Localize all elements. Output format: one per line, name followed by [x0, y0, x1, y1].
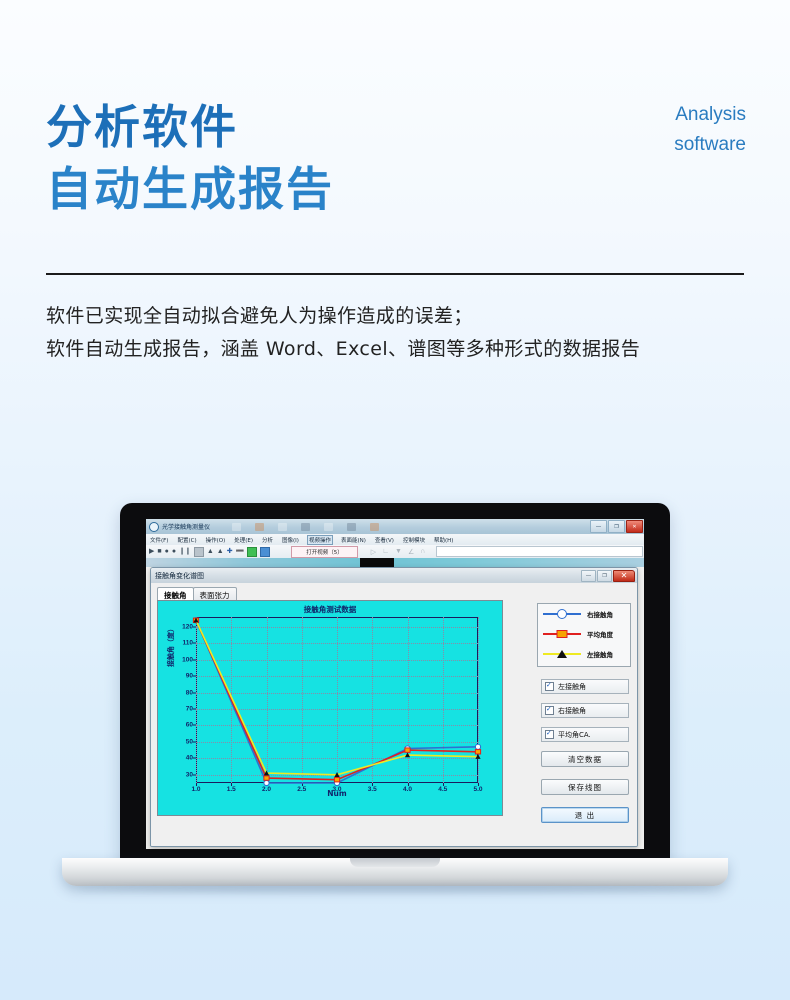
- chart-point-square: [405, 748, 410, 752]
- page-header: 分析软件 自动生成报告 Analysis software 软件已实现全自动拟合…: [0, 0, 790, 280]
- chart-y-tick-label: 100: [182, 656, 193, 663]
- thumbnail-item: [255, 523, 264, 531]
- checkbox-label: 平均角CA.: [558, 730, 591, 740]
- chart-y-tick-label: 90: [186, 673, 193, 680]
- checkbox-平均角CA.[interactable]: 平均角CA.: [541, 727, 629, 742]
- legend-label: 平均角度: [587, 629, 613, 639]
- chart-y-tick-label: 50: [186, 738, 193, 745]
- legend-triangle-marker-icon: [557, 650, 567, 658]
- chart-x-tick-label: 4.0: [403, 786, 412, 793]
- legend-square-marker-icon: [557, 630, 568, 638]
- close-button[interactable]: ✕: [626, 520, 643, 533]
- legend-label: 左接触角: [587, 649, 613, 659]
- checkbox-label: 左接触角: [558, 682, 586, 692]
- toolbar-disabled-tools: ▷ ∟ ▼ ∠ ∩: [371, 548, 426, 556]
- legend-line-swatch: [543, 613, 581, 615]
- triangle-up-icon[interactable]: ▲: [207, 548, 214, 555]
- chart-plot-area: 接触角（度） Num 304050607080901001101201.01.5…: [196, 617, 478, 783]
- body-line-1: 软件已实现全自动拟合避免人为操作造成的误差；: [46, 300, 640, 333]
- menu-item-处理e[interactable]: 处理(E): [233, 536, 254, 544]
- dialog-close-button[interactable]: ✕: [613, 570, 635, 582]
- checkbox-box[interactable]: [545, 706, 554, 715]
- legend-row: 平均角度: [538, 624, 630, 644]
- legend-label: 右接触角: [587, 609, 613, 619]
- chart-point-circle: [475, 744, 480, 749]
- chart-x-tick-label: 1.5: [227, 786, 236, 793]
- checkbox-label: 右接触角: [558, 706, 586, 716]
- chart-x-tick-label: 3.0: [332, 786, 341, 793]
- triangle-up-small-icon[interactable]: ▲: [217, 548, 224, 555]
- dialog-titlebar: 接触角变化谱图 — ❐ ✕: [151, 568, 637, 584]
- menu-item-控制模块[interactable]: 控制模块: [402, 536, 426, 544]
- chart-x-tick-label: 1.0: [191, 786, 200, 793]
- thumbnail-item: [324, 523, 333, 531]
- chart-x-tick-label: 2.0: [262, 786, 271, 793]
- button-保存线图[interactable]: 保存线图: [541, 779, 629, 795]
- chart-y-tick-label: 70: [186, 706, 193, 713]
- menu-item-文件f[interactable]: 文件(F): [149, 536, 169, 544]
- legend-circle-marker-icon: [557, 609, 567, 619]
- chart-y-tick-label: 40: [186, 755, 193, 762]
- menu-item-配置c[interactable]: 配置(C): [176, 536, 197, 544]
- menu-item-查看v[interactable]: 查看(V): [374, 536, 395, 544]
- chart-y-tick-label: 30: [186, 771, 193, 778]
- legend-line-swatch: [543, 653, 581, 655]
- contact-angle-chart-dialog: 接触角变化谱图 — ❐ ✕ 接触角表面张力 接触角测试数据: [150, 567, 638, 847]
- record-icon[interactable]: ●: [172, 548, 176, 555]
- dialog-maximize-button[interactable]: ❐: [597, 570, 612, 582]
- app-logo-icon: [149, 522, 159, 532]
- frame-icon[interactable]: [194, 547, 204, 557]
- body-line-2: 软件自动生成报告，涵盖 Word、Excel、谱图等多种形式的数据报告: [46, 333, 640, 366]
- chart-point-circle: [264, 780, 269, 785]
- contact-angle-chart: 接触角测试数据 接触角（度） Num 304050607080901001101…: [157, 600, 503, 816]
- chart-point-square: [264, 776, 269, 780]
- title-line-secondary: 自动生成报告: [46, 158, 334, 220]
- chart-point-square: [475, 750, 480, 754]
- menu-item-图像i[interactable]: 图像(I): [281, 536, 300, 544]
- chart-x-tick-label: 5.0: [473, 786, 482, 793]
- button-清空数据[interactable]: 清空数据: [541, 751, 629, 767]
- chart-title: 接触角测试数据: [158, 604, 502, 615]
- chart-y-tick-label: 80: [186, 689, 193, 696]
- dialog-title: 接触角变化谱图: [155, 571, 204, 581]
- measure-blue-icon[interactable]: [260, 547, 270, 557]
- chart-legend: 右接触角平均角度左接触角: [537, 603, 631, 667]
- button-退出[interactable]: 退 出: [541, 807, 629, 823]
- chart-x-tick-label: 3.5: [368, 786, 377, 793]
- video-preview-strip: [146, 558, 644, 567]
- play-icon[interactable]: ▶: [149, 548, 154, 555]
- dialog-body: 接触角表面张力 接触角测试数据 接触角（度） Num 3040506070809…: [151, 583, 637, 846]
- checkbox-box[interactable]: [545, 682, 554, 691]
- page-title: 分析软件 自动生成报告: [46, 96, 334, 220]
- menu-item-分析[interactable]: 分析: [261, 536, 274, 544]
- stop-icon[interactable]: ■: [157, 548, 161, 555]
- eyebrow-line-1: Analysis: [674, 100, 746, 130]
- dialog-window-controls: — ❐ ✕: [580, 570, 635, 582]
- menu-item-帮助h[interactable]: 帮助(H): [433, 536, 454, 544]
- dialog-minimize-button[interactable]: —: [581, 570, 596, 582]
- chart-line-右接触角: [196, 620, 478, 783]
- baseline-tool-icon: ∟: [382, 548, 389, 556]
- app-window-title: 光学接触角测量仪: [162, 522, 210, 531]
- drop-tool-icon: ▼: [395, 548, 402, 556]
- thumbnail-item: [347, 523, 356, 531]
- pause-icon[interactable]: ❙❙: [179, 548, 191, 555]
- title-line-primary: 分析软件: [46, 96, 334, 158]
- dialog-controls-panel: 左接触角右接触角平均角CA.清空数据保存线图退 出: [541, 679, 629, 835]
- laptop-screen: 光学接触角测量仪 — ❐ ✕ 文件(F)配置(C)操作(O)处理(E)分: [146, 519, 644, 849]
- chart-y-tick-label: 120: [182, 623, 193, 630]
- titlebar-thumbnail-strip: [232, 523, 589, 531]
- thumbnail-item: [301, 523, 310, 531]
- checkbox-box[interactable]: [545, 730, 554, 739]
- laptop-lid: 光学接触角测量仪 — ❐ ✕ 文件(F)配置(C)操作(O)处理(E)分: [120, 503, 670, 865]
- camera-icon[interactable]: ●: [165, 548, 169, 555]
- thumbnail-item: [232, 523, 241, 531]
- menu-item-视频操作[interactable]: 视频操作: [307, 535, 333, 545]
- body-copy: 软件已实现全自动拟合避免人为操作造成的误差； 软件自动生成报告，涵盖 Word、…: [46, 300, 640, 366]
- open-video-button[interactable]: 打开视频（5）: [291, 546, 358, 558]
- chart-y-axis-label: 接触角（度）: [166, 625, 176, 667]
- maximize-button[interactable]: ❐: [608, 520, 625, 533]
- legend-row: 左接触角: [538, 644, 630, 664]
- laptop-mockup: 光学接触角测量仪 — ❐ ✕ 文件(F)配置(C)操作(O)处理(E)分: [120, 503, 670, 903]
- contour-tool-icon: ∩: [420, 548, 425, 556]
- crosshair-icon[interactable]: ✚: [227, 548, 233, 555]
- laptop-shadow: [80, 884, 710, 893]
- chart-line-左接触角: [196, 620, 478, 775]
- chart-y-tick-label: 60: [186, 722, 193, 729]
- legend-row: 右接触角: [538, 604, 630, 624]
- chart-point-square: [334, 778, 339, 782]
- legend-line-swatch: [543, 633, 581, 635]
- chart-x-tick-label: 4.5: [438, 786, 447, 793]
- thumbnail-item: [278, 523, 287, 531]
- header-divider: [46, 273, 744, 275]
- eyebrow-line-2: software: [674, 130, 746, 160]
- minus-circle-icon[interactable]: ➖: [236, 548, 245, 555]
- tangent-tool-icon: ∠: [408, 548, 414, 556]
- minimize-button[interactable]: —: [590, 520, 607, 533]
- laptop-base: [62, 858, 728, 886]
- thumbnail-item: [370, 523, 379, 531]
- chart-series-layer: [196, 617, 478, 783]
- toolbar-text-field[interactable]: [436, 546, 643, 557]
- menu-item-表面能n[interactable]: 表面能(N): [340, 536, 367, 544]
- chart-x-tick-label: 2.5: [297, 786, 306, 793]
- angle-tool-icon: ▷: [371, 548, 376, 556]
- app-toolbar: ▶ ■ ● ● ❙❙ ▲ ▲ ✚ ➖ 打开视频（5） ▷ ∟ ▼ ∠ ∩: [146, 545, 644, 559]
- app-titlebar: 光学接触角测量仪 — ❐ ✕: [146, 519, 644, 535]
- checkbox-右接触角[interactable]: 右接触角: [541, 703, 629, 718]
- chart-y-tick-label: 110: [183, 640, 194, 647]
- app-window-controls: — ❐ ✕: [589, 520, 643, 533]
- measure-green-icon[interactable]: [247, 547, 257, 557]
- checkbox-左接触角[interactable]: 左接触角: [541, 679, 629, 694]
- eyebrow-english-label: Analysis software: [674, 100, 746, 160]
- menu-item-操作o[interactable]: 操作(O): [205, 536, 227, 544]
